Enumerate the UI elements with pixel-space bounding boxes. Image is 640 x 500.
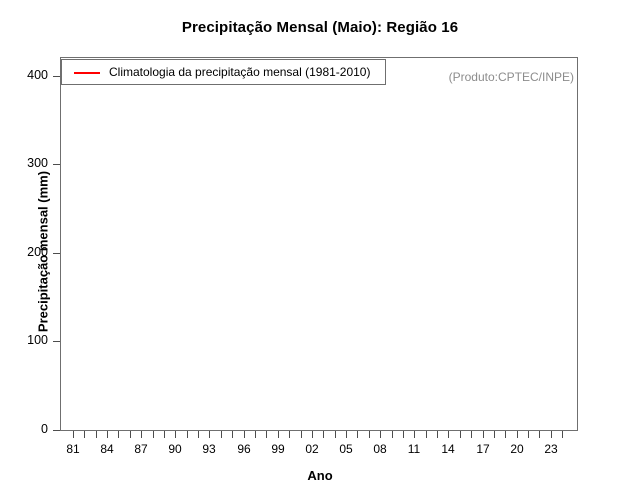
- x-tick-mark: [266, 431, 267, 438]
- x-tick-mark: [448, 431, 449, 438]
- x-tick-mark: [403, 431, 404, 438]
- y-tick-mark: [53, 430, 60, 431]
- x-tick-mark: [96, 431, 97, 438]
- plot-frame: [60, 57, 578, 431]
- x-tick-label: 90: [160, 442, 190, 456]
- x-tick-mark: [562, 431, 563, 438]
- x-tick-label: 02: [297, 442, 327, 456]
- x-tick-mark: [414, 431, 415, 438]
- y-tick-mark: [53, 164, 60, 165]
- y-axis-title: Precipitação mensal (mm): [36, 92, 51, 412]
- x-tick-label: 05: [331, 442, 361, 456]
- x-tick-mark: [551, 431, 552, 438]
- x-tick-mark: [460, 431, 461, 438]
- x-tick-mark: [209, 431, 210, 438]
- x-tick-mark: [244, 431, 245, 438]
- x-tick-mark: [232, 431, 233, 438]
- x-tick-label: 99: [263, 442, 293, 456]
- x-tick-mark: [164, 431, 165, 438]
- x-tick-mark: [346, 431, 347, 438]
- x-tick-mark: [323, 431, 324, 438]
- x-tick-label: 20: [502, 442, 532, 456]
- x-tick-mark: [494, 431, 495, 438]
- x-tick-mark: [357, 431, 358, 438]
- x-tick-label: 08: [365, 442, 395, 456]
- x-tick-mark: [517, 431, 518, 438]
- x-tick-mark: [505, 431, 506, 438]
- x-tick-mark: [130, 431, 131, 438]
- x-tick-mark: [289, 431, 290, 438]
- legend: Climatologia da precipitação mensal (198…: [61, 59, 386, 85]
- x-tick-mark: [392, 431, 393, 438]
- x-tick-mark: [187, 431, 188, 438]
- page-title: Precipitação Mensal (Maio): Região 16: [0, 19, 640, 36]
- x-tick-mark: [426, 431, 427, 438]
- x-tick-label: 93: [194, 442, 224, 456]
- x-tick-mark: [153, 431, 154, 438]
- x-tick-mark: [301, 431, 302, 438]
- x-tick-mark: [380, 431, 381, 438]
- y-tick-label: 0: [41, 422, 48, 436]
- x-tick-mark: [437, 431, 438, 438]
- chart-root: Precipitação Mensal (Maio): Região 16 01…: [0, 0, 640, 500]
- x-axis-title: Ano: [0, 468, 640, 483]
- x-tick-mark: [312, 431, 313, 438]
- x-tick-mark: [539, 431, 540, 438]
- x-tick-mark: [107, 431, 108, 438]
- x-tick-mark: [221, 431, 222, 438]
- x-tick-label: 87: [126, 442, 156, 456]
- x-tick-label: 11: [399, 442, 429, 456]
- x-tick-label: 17: [468, 442, 498, 456]
- x-tick-mark: [198, 431, 199, 438]
- x-tick-mark: [471, 431, 472, 438]
- y-tick-mark: [53, 253, 60, 254]
- x-tick-mark: [528, 431, 529, 438]
- x-tick-mark: [175, 431, 176, 438]
- x-tick-label: 96: [229, 442, 259, 456]
- x-tick-mark: [73, 431, 74, 438]
- horizontal-line-icon: [74, 72, 100, 74]
- x-tick-label: 23: [536, 442, 566, 456]
- x-tick-mark: [278, 431, 279, 438]
- x-tick-mark: [483, 431, 484, 438]
- product-credit: (Produto:CPTEC/INPE): [449, 70, 574, 84]
- x-tick-mark: [141, 431, 142, 438]
- legend-label: Climatologia da precipitação mensal (198…: [109, 65, 370, 79]
- x-tick-label: 81: [58, 442, 88, 456]
- x-tick-label: 14: [433, 442, 463, 456]
- x-tick-mark: [118, 431, 119, 438]
- x-tick-mark: [255, 431, 256, 438]
- x-tick-label: 84: [92, 442, 122, 456]
- y-tick-mark: [53, 341, 60, 342]
- x-tick-mark: [335, 431, 336, 438]
- x-tick-mark: [84, 431, 85, 438]
- x-tick-mark: [369, 431, 370, 438]
- y-tick-mark: [53, 76, 60, 77]
- y-tick-label: 400: [27, 68, 48, 82]
